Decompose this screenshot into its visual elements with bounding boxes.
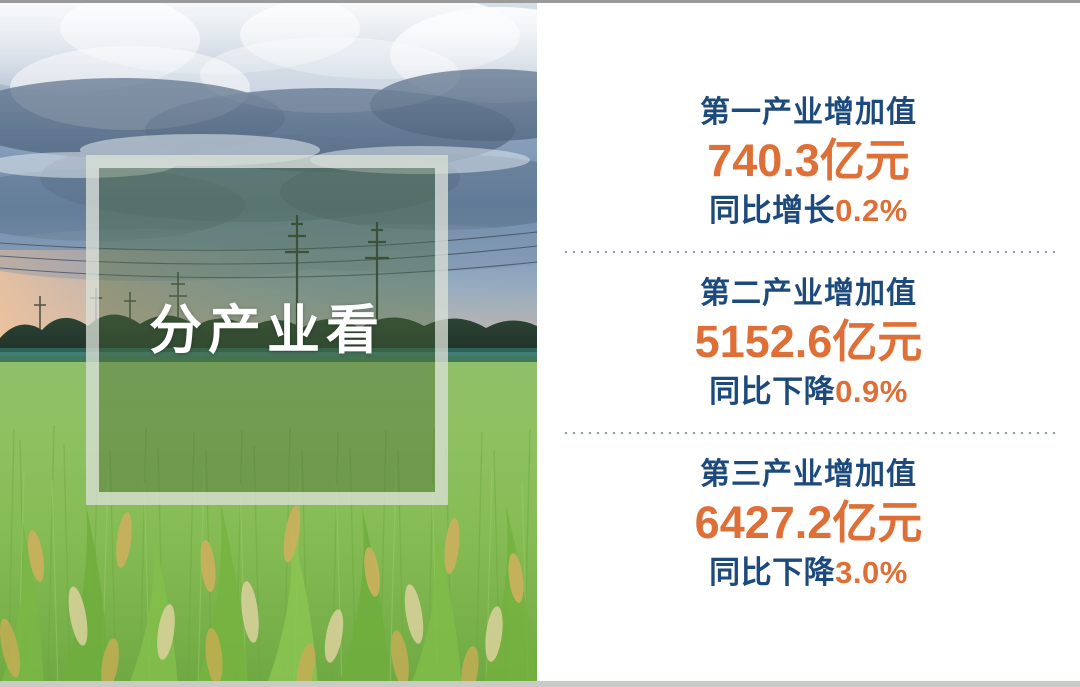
stat-change-prefix: 同比下降 <box>709 555 835 590</box>
stat-value: 740.3亿元 <box>561 134 1056 189</box>
hero-photo: 分产业看 <box>0 0 537 687</box>
stat-change-percent: 3.0% <box>835 555 908 590</box>
stat-block-primary-industry: 第一产业增加值 740.3亿元 同比增长0.2% <box>561 88 1056 251</box>
stat-value: 6427.2亿元 <box>561 496 1056 551</box>
stat-change: 同比下降0.9% <box>561 372 1056 412</box>
infographic-slide: 分产业看 第一产业增加值 740.3亿元 同比增长0.2% 第二产业增加值 51… <box>0 0 1080 687</box>
stat-change-percent: 0.9% <box>835 374 908 409</box>
stat-change-prefix: 同比增长 <box>709 193 835 228</box>
stat-change: 同比增长0.2% <box>561 191 1056 231</box>
stat-label: 第三产业增加值 <box>561 456 1056 494</box>
stats-panel: 第一产业增加值 740.3亿元 同比增长0.2% 第二产业增加值 5152.6亿… <box>537 0 1080 687</box>
stat-change-prefix: 同比下降 <box>709 374 835 409</box>
stat-label: 第二产业增加值 <box>561 275 1056 313</box>
stat-change: 同比下降3.0% <box>561 553 1056 593</box>
bottom-edge-rule <box>0 681 1080 687</box>
stat-change-percent: 0.2% <box>835 193 908 228</box>
stat-block-secondary-industry: 第二产业增加值 5152.6亿元 同比下降0.9% <box>561 253 1056 432</box>
title-overlay-frame <box>86 155 448 505</box>
stat-block-tertiary-industry: 第三产业增加值 6427.2亿元 同比下降3.0% <box>561 434 1056 599</box>
top-edge-rule <box>0 0 1080 3</box>
stat-value: 5152.6亿元 <box>561 315 1056 370</box>
stat-label: 第一产业增加值 <box>561 94 1056 132</box>
